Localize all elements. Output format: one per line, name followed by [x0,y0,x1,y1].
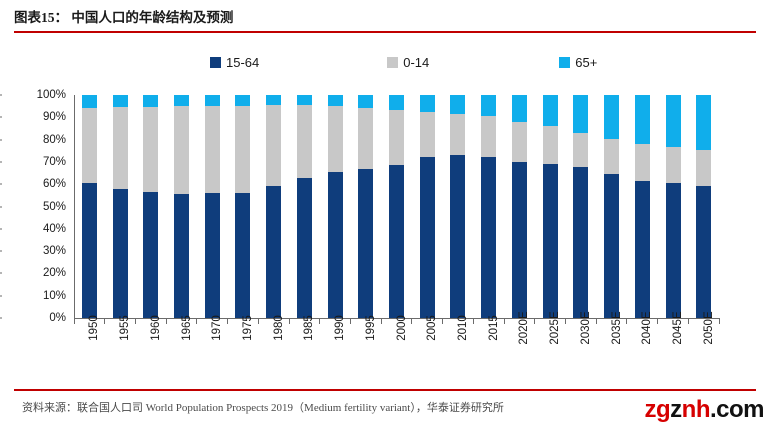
x-axis-label-slot: 1950 [74,326,105,378]
bar-segment-65-plus[interactable] [266,95,281,105]
stacked-bar[interactable] [358,95,373,318]
y-axis-tick-mark [0,206,2,207]
bar-segment-15-64[interactable] [604,174,619,318]
bar-segment-65-plus[interactable] [420,95,435,112]
legend-item-65-plus[interactable]: 65+ [559,56,597,69]
bar-slot [350,95,381,318]
y-axis-tick-label: 60% [2,178,74,190]
bar-slot [504,95,535,318]
bar-segment-15-64[interactable] [481,157,496,318]
bar-segment-15-64[interactable] [420,157,435,318]
stacked-bar[interactable] [297,95,312,318]
bar-segment-65-plus[interactable] [205,95,220,105]
x-axis-tick-label: 2025E [550,311,562,344]
chart-canvas: 0%10%20%30%40%50%60%70%80%90%100% 195019… [0,78,770,383]
bar-segment-15-64[interactable] [543,164,558,318]
x-axis-tick-label: 2020E [519,311,531,344]
watermark-part-1: zg [644,396,670,423]
stacked-bar[interactable] [420,95,435,318]
footer-divider [14,389,756,391]
x-axis-tick-label: 2015 [489,315,501,341]
stacked-bar[interactable] [389,95,404,318]
y-axis-tick-mark [0,184,2,185]
x-axis-label-slot: 1975 [228,326,259,378]
x-axis-tick-mark [166,319,167,324]
stacked-bar[interactable] [481,95,496,318]
bar-slot [627,95,658,318]
bar-segment-15-64[interactable] [635,181,650,318]
x-axis-tick-mark [565,319,566,324]
y-axis-tick-mark [0,251,2,252]
stacked-bar[interactable] [266,95,281,318]
x-axis-label-slot: 1955 [105,326,136,378]
y-axis-tick-label: 30% [2,245,74,257]
stacked-bar[interactable] [235,95,250,318]
page-title: 图表15： 中国人口的年龄结构及预测 [14,8,756,28]
stacked-bar[interactable] [328,95,343,318]
bar-segment-0-14[interactable] [481,116,496,157]
x-axis-tick-label: 2030E [581,311,593,344]
x-axis-tick-label: 1970 [212,315,224,341]
bar-segment-65-plus[interactable] [696,95,711,150]
bar-segment-65-plus[interactable] [512,95,527,122]
bar-segment-15-64[interactable] [235,193,250,318]
bar-segment-65-plus[interactable] [481,95,496,116]
x-axis-tick-mark [350,319,351,324]
x-axis-tick-label: 2000 [397,315,409,341]
bar-slot [258,95,289,318]
x-axis-tick-mark [534,319,535,324]
bar-segment-0-14[interactable] [297,105,312,177]
x-axis-label-slot: 2015 [473,326,504,378]
bar-segment-15-64[interactable] [297,178,312,318]
x-axis-label-slot: 1965 [166,326,197,378]
x-axis-tick-label: 1965 [182,315,194,341]
stacked-bar[interactable] [82,95,97,318]
bar-segment-0-14[interactable] [604,139,619,175]
y-axis-tick-label: 40% [2,223,74,235]
x-axis-label-slot: 1960 [135,326,166,378]
x-axis-tick-label: 2005 [427,315,439,341]
y-axis-tick-mark [0,139,2,140]
y-axis-tick-mark [0,161,2,162]
x-axis-tick-mark [473,319,474,324]
bar-segment-15-64[interactable] [113,189,128,318]
bar-slot [566,95,597,318]
x-axis-tick-mark [74,319,75,324]
title-divider [14,31,756,33]
bar-segment-0-14[interactable] [266,105,281,186]
x-axis-label-slot: 2010 [443,326,474,378]
stacked-bar[interactable] [512,95,527,318]
x-axis-tick-mark [688,319,689,324]
x-axis-label-slot: 2030E [566,326,597,378]
stacked-bar[interactable] [635,95,650,318]
x-axis-tick-mark [626,319,627,324]
y-axis-tick-label: 100% [2,89,74,101]
bar-slot [381,95,412,318]
y-axis-tick-label: 50% [2,201,74,213]
x-axis-tick-mark [289,319,290,324]
bar-segment-0-14[interactable] [635,144,650,181]
chart-legend: 15-64 0-14 65+ [14,50,756,74]
x-axis-tick-label: 1980 [274,315,286,341]
stacked-bar[interactable] [450,95,465,318]
y-axis-tick-label: 90% [2,111,74,123]
bar-segment-0-14[interactable] [235,106,250,193]
x-axis-tick-label: 1995 [366,315,378,341]
bar-segment-0-14[interactable] [358,108,373,169]
stacked-bar[interactable] [696,95,711,318]
bar-segment-0-14[interactable] [420,112,435,158]
legend-label-65-plus: 65+ [575,56,597,69]
stacked-bar[interactable] [604,95,619,318]
x-axis-tick-mark [657,319,658,324]
bar-segment-0-14[interactable] [389,110,404,166]
bar-segment-65-plus[interactable] [174,95,189,106]
x-axis-tick-mark [227,319,228,324]
y-axis-tick-mark [0,95,2,96]
bar-slot [74,95,105,318]
bar-segment-65-plus[interactable] [113,95,128,107]
bar-slot [197,95,228,318]
bar-segment-65-plus[interactable] [635,95,650,144]
x-axis-tick-mark [719,319,720,324]
bar-segment-15-64[interactable] [696,186,711,318]
y-axis-tick-mark [0,228,2,229]
x-axis-label-slot: 2035E [596,326,627,378]
stacked-bar[interactable] [174,95,189,318]
x-axis-label-slot: 2045E [658,326,689,378]
bar-segment-0-14[interactable] [82,108,97,184]
stacked-bar[interactable] [543,95,558,318]
bar-slot [320,95,351,318]
bar-slot [535,95,566,318]
bar-segment-15-64[interactable] [389,165,404,318]
chart-figure-panel: 图表15： 中国人口的年龄结构及预测 15-64 0-14 65+ 0%10 [0,0,770,435]
bar-segment-15-64[interactable] [450,155,465,318]
x-axis-tick-mark [596,319,597,324]
bar-segment-65-plus[interactable] [143,95,158,107]
x-axis-tick-label: 2050E [704,311,716,344]
bar-segment-0-14[interactable] [573,133,588,168]
bar-segment-65-plus[interactable] [328,95,343,106]
bar-slot [228,95,259,318]
bar-segment-15-64[interactable] [205,193,220,318]
x-axis-tick-label: 2045E [673,311,685,344]
bar-slot [289,95,320,318]
y-axis-tick-label: 20% [2,267,74,279]
bar-segment-0-14[interactable] [543,126,558,164]
x-axis-label-group: 1950195519601965197019751980198519901995… [74,326,719,378]
watermark-part-4: .com [710,396,764,423]
bar-slot [166,95,197,318]
x-axis-label-slot: 2000 [381,326,412,378]
legend-swatch-icon-0-14 [387,57,398,68]
x-axis-tick-label: 1975 [243,315,255,341]
bar-segment-0-14[interactable] [205,106,220,194]
x-axis-label-slot: 2005 [412,326,443,378]
x-axis-label-slot: 2050E [688,326,719,378]
x-axis-tick-mark [258,319,259,324]
x-axis-label-slot: 1980 [258,326,289,378]
watermark-part-2: z [670,396,682,423]
bar-slot [135,95,166,318]
bar-segment-65-plus[interactable] [235,95,250,106]
bar-segment-0-14[interactable] [113,107,128,188]
bar-segment-0-14[interactable] [143,107,158,192]
y-axis-tick-label: 10% [2,290,74,302]
y-axis-tick-label: 70% [2,156,74,168]
bar-slot [658,95,689,318]
x-axis-tick-mark [504,319,505,324]
watermark-part-3: nh [682,396,710,423]
x-axis-tick-mark [135,319,136,324]
bar-segment-65-plus[interactable] [389,95,404,109]
x-axis-tick-label: 1990 [335,315,347,341]
bar-segment-65-plus[interactable] [604,95,619,138]
x-axis-tick-label: 2040E [642,311,654,344]
bar-segment-0-14[interactable] [328,106,343,172]
x-axis-tick-mark [104,319,105,324]
watermark: zgznh.com [644,396,764,424]
bar-slot [688,95,719,318]
bar-segment-0-14[interactable] [174,106,189,194]
y-axis-tick-mark [0,117,2,118]
bar-segment-15-64[interactable] [358,169,373,318]
x-axis-label-slot: 1990 [320,326,351,378]
legend-item-15-64[interactable]: 15-64 [210,56,259,69]
bar-segment-65-plus[interactable] [573,95,588,133]
bar-segment-65-plus[interactable] [543,95,558,126]
x-axis-tick-label: 2035E [612,311,624,344]
y-axis-tick-mark [0,295,2,296]
x-axis-tick-label: 2010 [458,315,470,341]
stacked-bar[interactable] [143,95,158,318]
x-axis-tick-mark [196,319,197,324]
bar-slot [105,95,136,318]
bar-segment-15-64[interactable] [512,162,527,318]
x-axis-tick-mark [319,319,320,324]
y-axis-tick-mark [0,318,2,319]
x-axis-tick-label: 1985 [304,315,316,341]
bar-segment-65-plus[interactable] [450,95,465,114]
x-axis-tick-label: 1955 [120,315,132,341]
x-axis-label-slot: 1995 [350,326,381,378]
bar-slot [443,95,474,318]
stacked-bar[interactable] [205,95,220,318]
bar-segment-65-plus[interactable] [666,95,681,147]
x-axis-tick-mark [442,319,443,324]
plot-area: 0%10%20%30%40%50%60%70%80%90%100% [74,95,719,318]
x-axis-tick-label: 1960 [151,315,163,341]
source-note: 资料来源：联合国人口司 World Population Prospects 2… [22,399,504,415]
bar-segment-15-64[interactable] [143,192,158,318]
bar-segment-15-64[interactable] [328,172,343,318]
legend-swatch-icon-15-64 [210,57,221,68]
bar-segment-0-14[interactable] [666,147,681,183]
x-axis-label-slot: 2020E [504,326,535,378]
legend-label-0-14: 0-14 [403,56,429,69]
bar-slot [473,95,504,318]
x-axis-label-slot: 1985 [289,326,320,378]
y-axis-tick-label: 0% [2,312,74,324]
y-axis-tick-label: 80% [2,134,74,146]
bar-segment-0-14[interactable] [512,122,527,162]
x-axis-label-slot: 1970 [197,326,228,378]
bar-slot [412,95,443,318]
bar-segment-15-64[interactable] [266,186,281,318]
bar-segment-15-64[interactable] [666,183,681,318]
y-axis-tick-mark [0,273,2,274]
bar-segment-65-plus[interactable] [297,95,312,105]
bar-segment-0-14[interactable] [450,114,465,155]
stacked-bar[interactable] [113,95,128,318]
legend-item-0-14[interactable]: 0-14 [387,56,429,69]
x-axis-label-slot: 2025E [535,326,566,378]
bar-segment-65-plus[interactable] [82,95,97,107]
stacked-bar[interactable] [666,95,681,318]
bar-segment-0-14[interactable] [696,150,711,187]
x-axis-tick-mark [411,319,412,324]
bar-segment-15-64[interactable] [573,167,588,318]
legend-label-15-64: 15-64 [226,56,259,69]
stacked-bar[interactable] [573,95,588,318]
bar-segment-15-64[interactable] [82,183,97,318]
x-axis-tick-mark [381,319,382,324]
x-axis-label-slot: 2040E [627,326,658,378]
bar-slot [596,95,627,318]
legend-swatch-icon-65-plus [559,57,570,68]
bar-segment-15-64[interactable] [174,194,189,318]
bar-segment-65-plus[interactable] [358,95,373,107]
x-axis-tick-label: 1950 [89,315,101,341]
bar-series-group [74,95,719,318]
